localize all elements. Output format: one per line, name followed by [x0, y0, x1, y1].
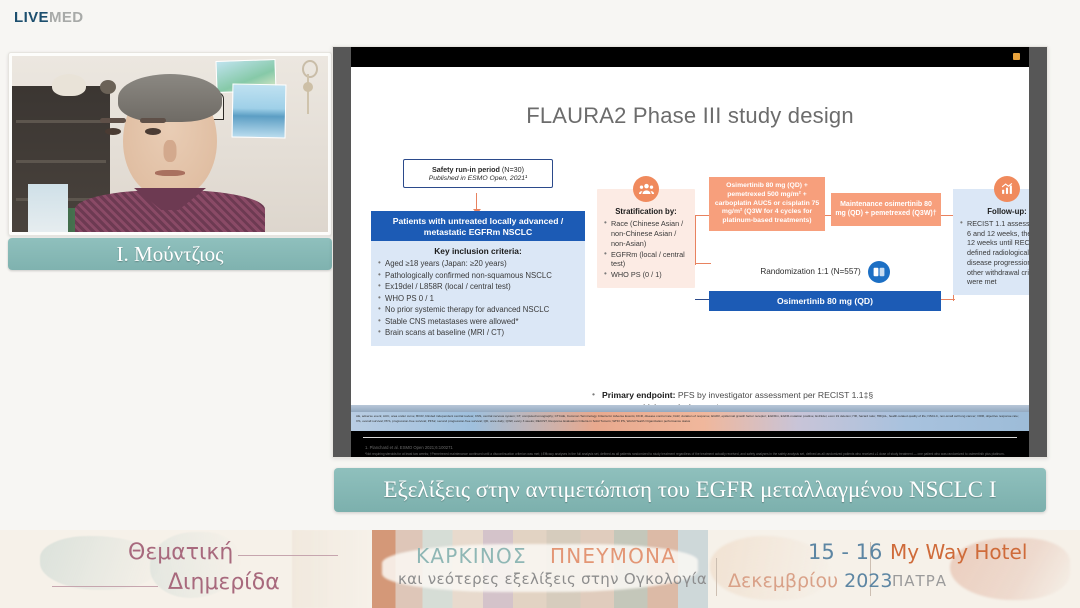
connector-line — [695, 215, 696, 265]
footnote-reference: 1. Planchard et al. ESMO Open 2021;6:100… — [365, 445, 1017, 451]
runin-publication: Published in ESMO Open, 2021¹ — [408, 175, 548, 182]
followup-box: Follow-up: RECIST 1.1 assessment at 6 an… — [953, 189, 1029, 295]
footer-center: ΚΑΡΚΙΝΟΣ ΠΝΕΥΜΟΝΑ και νεότερες εξελίξεις… — [372, 530, 708, 608]
logo-live-text: LIVE — [14, 9, 49, 26]
recording-indicator-icon — [1013, 53, 1020, 60]
event-title-word2: ΠΝΕΥΜΟΝΑ — [550, 544, 676, 568]
arm-maintenance-box: Maintenance osimertinib 80 mg (QD) + pem… — [831, 193, 941, 226]
study-design-diagram: Safety run-in period (N=30) Published in… — [361, 159, 1019, 389]
session-title-text: Εξελίξεις στην αντιμετώπιση του EGFR μετ… — [383, 477, 996, 503]
list-item: No prior systemic therapy for advanced N… — [377, 305, 579, 316]
event-dates: 15 - 16 — [808, 540, 882, 564]
arm-combination-box: Osimertinib 80 mg (QD) + pemetrexed 500 … — [709, 177, 825, 231]
list-item: WHO PS 0 / 1 — [377, 294, 579, 305]
event-venue: My Way Hotel — [890, 540, 1027, 564]
stratification-box: Stratification by: Race (Chinese Asian /… — [597, 189, 695, 288]
list-item: Aged ≥18 years (Japan: ≥20 years) — [377, 259, 579, 270]
footnote-body: *Not requiring steroids for at least two… — [365, 452, 1017, 457]
followup-header: Follow-up: — [959, 207, 1029, 216]
speaker-video-panel[interactable] — [8, 52, 332, 236]
list-item: Pathologically confirmed non-squamous NS… — [377, 271, 579, 282]
livemed-logo[interactable]: LIVEMED — [14, 9, 84, 26]
chart-icon — [994, 176, 1020, 202]
list-item: Stable CNS metastases were allowed* — [377, 317, 579, 328]
speaker-name-text: Ι. Μούντζιος — [117, 242, 224, 267]
divider — [363, 437, 1017, 438]
randomization-icon — [868, 261, 890, 283]
event-month: Δεκεμβρίου — [728, 570, 844, 592]
patients-header-box: Patients with untreated locally advanced… — [371, 211, 585, 242]
footer-thematic-line2: Διημερίδα — [168, 570, 280, 595]
video-lamp — [52, 74, 86, 96]
safety-runin-box: Safety run-in period (N=30) Published in… — [403, 159, 553, 188]
list-item: WHO PS (0 / 1) — [603, 270, 689, 280]
endpoint-text: PFS by investigator assessment per RECIS… — [676, 390, 874, 400]
abbreviation-text: AE, adverse event; AUC, area under curve… — [351, 412, 1029, 426]
logo-med-text: MED — [49, 9, 84, 26]
event-year: 2023 — [844, 570, 892, 592]
slide-content: FLAURA2 Phase III study design Safety ru… — [351, 67, 1029, 431]
viewer-right-gutter — [1029, 47, 1047, 457]
footer-decor-line — [238, 555, 338, 556]
list-item: EGFRm (local / central test) — [603, 250, 689, 270]
viewer-left-gutter — [333, 47, 351, 457]
event-month-year: Δεκεμβρίου 2023 — [728, 570, 892, 592]
event-subtitle: και νεότερες εξελίξεις στην Ογκολογία — [398, 570, 707, 588]
page-root: LIVEMED — [0, 0, 1080, 608]
list-item: RECIST 1.1 assessment at 6 and 12 weeks,… — [959, 219, 1029, 287]
slide-letterbox-top — [351, 47, 1029, 67]
event-city: ΠΑΤΡΑ — [892, 572, 947, 590]
list-item: Ex19del / L858R (local / central test) — [377, 282, 579, 293]
arm-monotherapy-box: Osimertinib 80 mg (QD) — [709, 291, 941, 311]
speaker-video-feed[interactable] — [12, 56, 328, 232]
inclusion-criteria-box: Key inclusion criteria: Aged ≥18 years (… — [371, 241, 585, 346]
speaker-name-bar: Ι. Μούντζιος — [8, 238, 332, 270]
stratification-header: Stratification by: — [603, 207, 689, 216]
footer-right: 15 - 16 Δεκεμβρίου 2023 My Way Hotel ΠΑΤ… — [710, 530, 1080, 608]
runin-label: Safety run-in period — [432, 165, 500, 174]
video-speaker-hair — [118, 74, 222, 122]
slide-footnotes: 1. Planchard et al. ESMO Open 2021;6:100… — [365, 445, 1017, 457]
inclusion-criteria-header: Key inclusion criteria: — [377, 246, 579, 256]
endpoint-label: Primary endpoint: — [602, 390, 676, 400]
slide-viewer[interactable]: FLAURA2 Phase III study design Safety ru… — [332, 46, 1048, 458]
list-item: Brain scans at baseline (MRI / CT) — [377, 328, 579, 339]
runin-n: (N=30) — [500, 165, 524, 174]
event-footer: Θεματική Διημερίδα ΚΑΡΚΙΝΟΣ ΠΝΕΥΜΟΝΑ και… — [0, 530, 1080, 608]
video-plant — [100, 80, 116, 94]
abbreviation-bar-top — [351, 405, 1029, 412]
video-wall-picture-2 — [232, 84, 287, 139]
flow-arrow-icon — [476, 193, 477, 210]
presentation-slide[interactable]: FLAURA2 Phase III study design Safety ru… — [351, 47, 1029, 457]
footer-divider — [716, 558, 717, 596]
footer-thematic-line1: Θεματική — [128, 540, 233, 565]
randomization-box: Randomization 1:1 (N=557) — [709, 255, 941, 289]
primary-endpoint: Primary endpoint: PFS by investigator as… — [591, 389, 1017, 402]
people-icon — [633, 176, 659, 202]
event-title-word1: ΚΑΡΚΙΝΟΣ — [416, 544, 527, 568]
footer-left: Θεματική Διημερίδα — [0, 530, 370, 608]
footer-decor-line — [52, 586, 158, 587]
video-wall-ornament — [302, 60, 314, 116]
abbreviation-bar: AE, adverse event; AUC, area under curve… — [351, 412, 1029, 431]
slide-title: FLAURA2 Phase III study design — [351, 103, 1029, 129]
randomization-text: Randomization 1:1 (N=557) — [760, 266, 860, 277]
list-item: Race (Chinese Asian / non-Chinese Asian … — [603, 219, 689, 249]
session-title-bar: Εξελίξεις στην αντιμετώπιση του EGFR μετ… — [334, 468, 1046, 512]
